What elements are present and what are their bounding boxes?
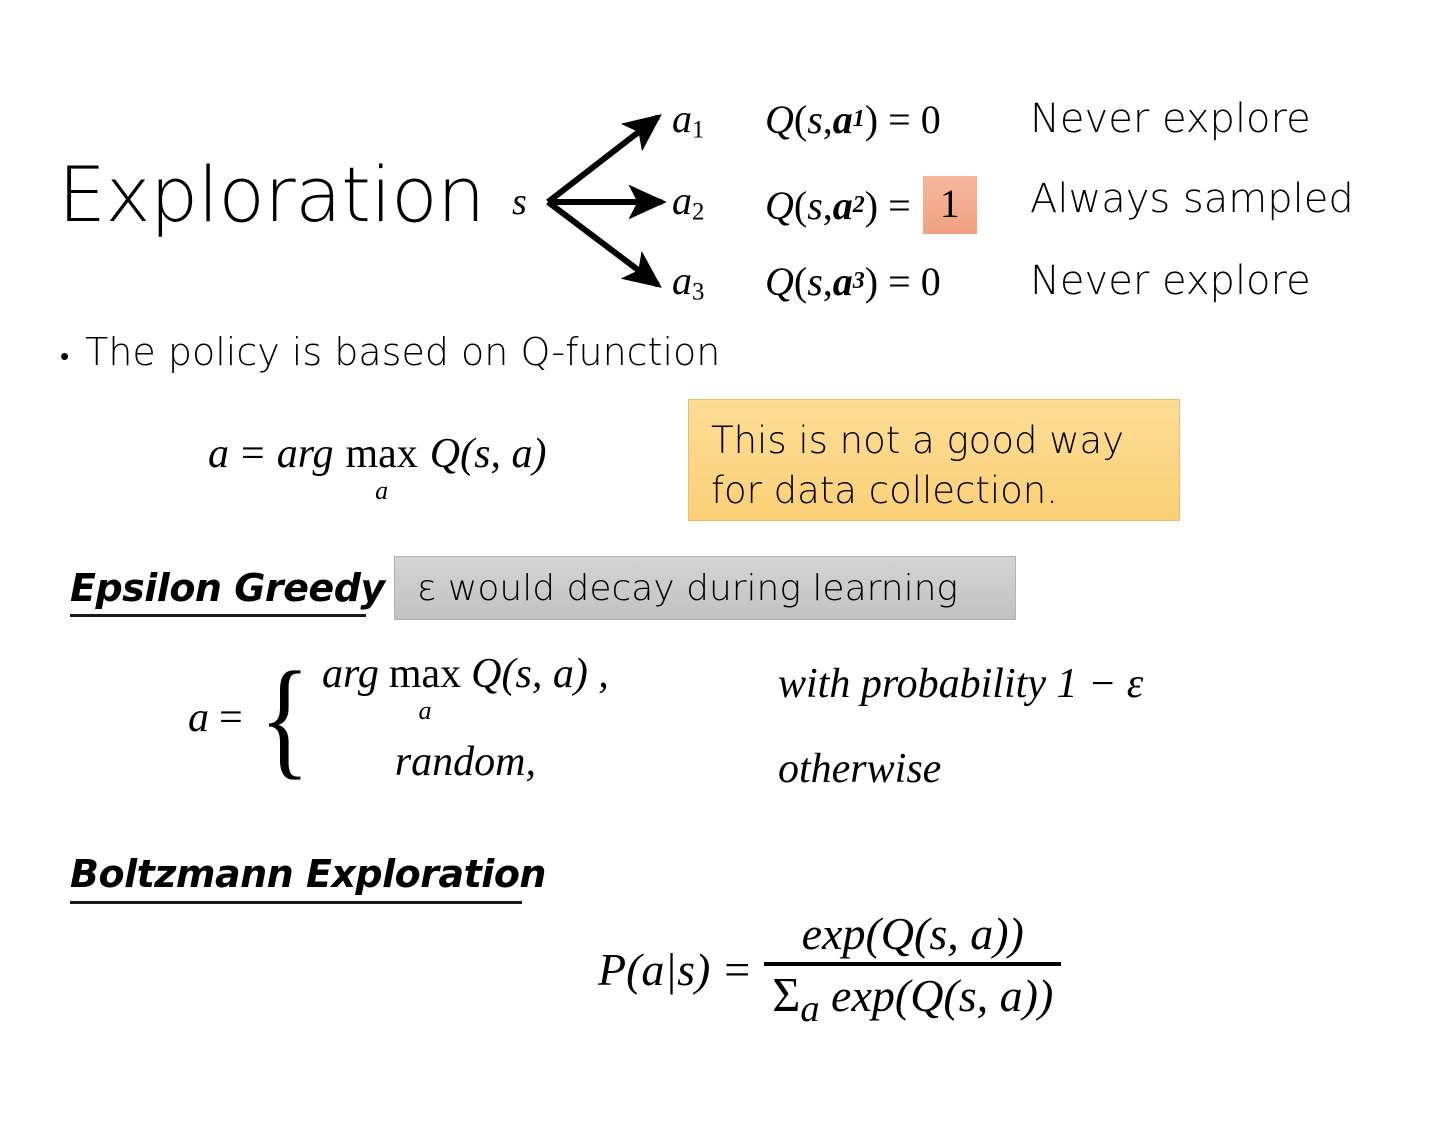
q-note-a2: Always sampled (1030, 176, 1354, 222)
state-symbol: s (807, 182, 823, 229)
case-brace: { (259, 667, 310, 770)
case-random-text: random, (395, 738, 536, 786)
formula-rhs: Q(s, a) (430, 430, 547, 478)
bullet-text: The policy is based on Q-function (85, 330, 720, 374)
arg-keyword: arg (277, 430, 334, 478)
fraction: exp(Q(s, a)) Σa exp(Q(s, a)) (764, 905, 1061, 1033)
q-note-a1: Never explore (1030, 96, 1311, 142)
fraction-denominator: Σa exp(Q(s, a)) (764, 966, 1061, 1033)
tree-action-label-a1: a1 (672, 95, 704, 144)
action-base: a (672, 178, 692, 223)
q-symbol: Q (765, 96, 794, 143)
action-subscript: 3 (692, 278, 704, 305)
paren-close: ) (865, 258, 878, 305)
action-subscript: 3 (853, 268, 865, 295)
comma: , (823, 96, 833, 143)
heading-underline-boltzmann (70, 901, 522, 904)
max-subscript: a (418, 698, 431, 724)
q-symbol: Q (765, 182, 794, 229)
q-value: 0 (921, 96, 941, 143)
case-list: arg max a Q(s, a) , random, (322, 650, 609, 786)
callout-data-collection: This is not a good way for data collecti… (688, 399, 1180, 521)
denominator-expression: exp(Q(s, a)) (831, 970, 1053, 1021)
bullet-policy-q-function: • The policy is based on Q-function (60, 330, 720, 374)
epsilon-decay-text: ε would decay during learning (417, 568, 958, 609)
action-subscript: 2 (692, 198, 704, 225)
tree-action-label-a2: a2 (672, 177, 704, 226)
action-subscript: 1 (853, 106, 865, 133)
formula-lhs: a (208, 430, 229, 478)
summation-symbol: Σ (772, 969, 800, 1022)
action-subscript: 2 (853, 192, 865, 219)
summation-subscript: a (800, 988, 819, 1030)
tree-branch-a1 (548, 117, 658, 202)
heading-boltzmann-exploration: Boltzmann Exploration (70, 852, 546, 896)
equals-sign: = (878, 258, 921, 305)
formula-epsilon-greedy: a = { arg max a Q(s, a) , random, (188, 650, 609, 786)
state-symbol: s (807, 258, 823, 305)
note-box-epsilon-decay: ε would decay during learning (394, 556, 1016, 620)
action-symbol: a (833, 182, 853, 229)
formula-lhs: a (188, 694, 209, 742)
q-expression-a1: Q(s,a1)=0 (765, 96, 941, 143)
paren-open: ( (794, 182, 807, 229)
q-expression-a3: Q(s,a3)=0 (765, 258, 941, 305)
q-expression-a2: Q(s,a2)=1 (765, 176, 979, 234)
page-title: Exploration (58, 157, 485, 233)
formula-boltzmann-softmax: P(a|s) = exp(Q(s, a)) Σa exp(Q(s, a)) (598, 905, 1061, 1033)
q-value: 0 (921, 258, 941, 305)
max-operator: max a (345, 433, 417, 504)
heading-underline-epsilon-greedy (70, 614, 366, 617)
equals-sign: = (724, 943, 750, 996)
case-random: random, (322, 738, 609, 786)
formula-greedy-policy: a = arg max a Q(s, a) (208, 430, 546, 504)
paren-open: ( (794, 96, 807, 143)
action-base: a (672, 258, 692, 303)
comma: , (823, 258, 833, 305)
condition-with-probability: with probability 1 − ε (778, 660, 1143, 708)
equals-sign: = (878, 182, 921, 229)
max-label: max (345, 433, 417, 475)
case-greedy-rhs: Q(s, a) , (471, 650, 609, 698)
callout-line-1: This is not a good way (711, 416, 1179, 466)
arg-keyword: arg (322, 650, 379, 698)
fraction-numerator: exp(Q(s, a)) (794, 905, 1032, 962)
action-symbol: a (833, 96, 853, 143)
tree-branch-a3 (548, 202, 658, 285)
tree-action-label-a3: a3 (672, 257, 704, 306)
paren-open: ( (794, 258, 807, 305)
q-value-highlight-box: 1 (923, 176, 977, 234)
max-operator: max a (389, 653, 461, 724)
tree-state-label: s (512, 180, 527, 224)
action-subscript: 1 (692, 116, 704, 143)
max-subscript: a (375, 478, 388, 504)
bullet-marker: • (60, 344, 69, 370)
state-symbol: s (807, 96, 823, 143)
condition-otherwise: otherwise (778, 745, 941, 793)
action-symbol: a (833, 258, 853, 305)
q-symbol: Q (765, 258, 794, 305)
equals-sign: = (241, 430, 265, 478)
q-note-a3: Never explore (1030, 258, 1311, 304)
paren-close: ) (865, 96, 878, 143)
formula-lhs-probability: P(a|s) (598, 943, 710, 996)
heading-epsilon-greedy: Epsilon Greedy (70, 566, 385, 610)
case-greedy: arg max a Q(s, a) , (322, 650, 609, 724)
equals-sign: = (219, 694, 243, 742)
callout-line-2: for data collection. (711, 466, 1179, 516)
paren-close: ) (865, 182, 878, 229)
max-label: max (389, 653, 461, 695)
action-base: a (672, 96, 692, 141)
comma: , (823, 182, 833, 229)
equals-sign: = (878, 96, 921, 143)
